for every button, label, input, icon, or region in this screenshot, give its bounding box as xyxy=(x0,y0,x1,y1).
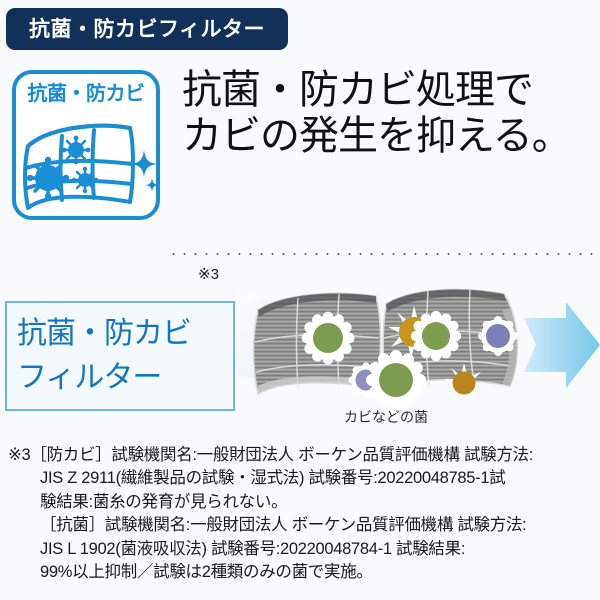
footnote-line: 99%以上抑制／試験は2種類のみの菌で実施。 xyxy=(0,561,600,584)
photo-caption: カビなどの菌 xyxy=(236,410,536,424)
filter-illustration-icon xyxy=(18,116,160,216)
footnote-block-1: ※3［防カビ］試験機関名:一般財団法人 ボーケン品質評価機構 試験方法: JIS… xyxy=(0,444,600,514)
dotted-divider xyxy=(168,252,594,256)
header-title: 抗菌・防カビフィルター xyxy=(29,19,265,40)
filter-name-line-2: フィルター xyxy=(17,363,161,393)
footnote-line: JIS Z 2911(繊維製品の試験・湿式法) 試験番号:20220048785… xyxy=(0,467,600,490)
page-root: 抗菌・防カビフィルター 抗菌・防カビ xyxy=(0,0,600,600)
sparkle-icon xyxy=(131,150,159,192)
photo-note-mark: ※3 xyxy=(198,267,219,282)
airflow-arrow-icon xyxy=(524,302,600,388)
icon-card-title: 抗菌・防カビ xyxy=(16,84,156,104)
section-header-badge: 抗菌・防カビフィルター xyxy=(6,8,288,50)
hero-section: 抗菌・防カビ xyxy=(0,62,600,234)
antibacterial-icon-card: 抗菌・防カビ xyxy=(12,70,160,220)
filter-name-line-1: 抗菌・防カビ xyxy=(17,319,191,349)
footnotes-section: ※3［防カビ］試験機関名:一般財団法人 ボーケン品質評価機構 試験方法: JIS… xyxy=(0,444,600,585)
headline-line-2: カビの発生を抑える。 xyxy=(182,114,594,160)
footnote-line: ［抗菌］試験機関名:一般財団法人 ボーケン品質評価機構 試験方法: xyxy=(0,514,600,537)
headline-line-1: 抗菌・防カビ処理で xyxy=(182,68,594,114)
footnote-line: ※3［防カビ］試験機関名:一般財団法人 ボーケン品質評価機構 試験方法: xyxy=(0,444,600,467)
footnote-block-2: ［抗菌］試験機関名:一般財団法人 ボーケン品質評価機構 試験方法: JIS L … xyxy=(0,514,600,584)
filter-photo xyxy=(236,280,600,410)
middle-section: ※3 抗菌・防カビ フィルター xyxy=(0,262,600,440)
filter-name-box: 抗菌・防カビ フィルター xyxy=(5,301,235,411)
footnote-line: JIS L 1902(菌液吸収法) 試験番号:20220048784-1 試験結… xyxy=(0,538,600,561)
hero-headline: 抗菌・防カビ処理で カビの発生を抑える。 xyxy=(182,68,594,159)
footnote-line: 験結果:菌糸の発育が見られない。 xyxy=(0,491,600,514)
germ-purple-2 xyxy=(478,316,518,356)
